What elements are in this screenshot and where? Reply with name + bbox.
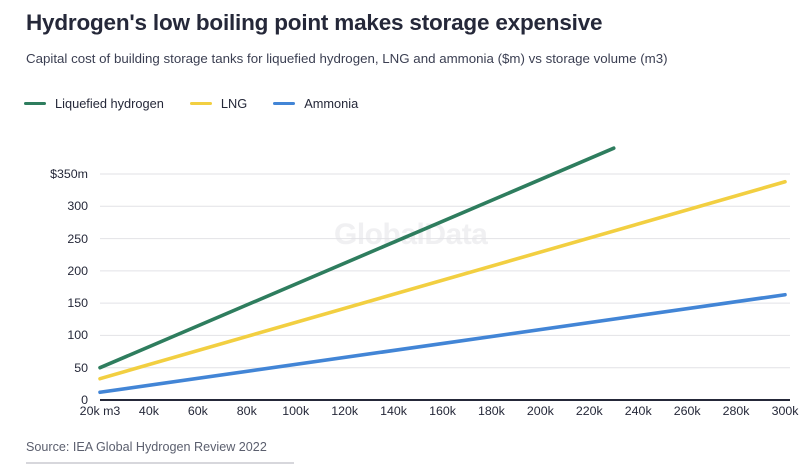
x-axis-tick-label: 60k bbox=[188, 404, 208, 418]
x-axis-tick-label: 240k bbox=[625, 404, 652, 418]
series-line-lng bbox=[100, 182, 785, 379]
x-axis-tick-label: 260k bbox=[674, 404, 701, 418]
chart-series-lines bbox=[100, 148, 785, 392]
x-axis-tick-label: 220k bbox=[576, 404, 603, 418]
chart-source: Source: IEA Global Hydrogen Review 2022 bbox=[26, 440, 267, 454]
y-axis-tick-label: 50 bbox=[0, 361, 88, 375]
series-line-ammonia bbox=[100, 295, 785, 393]
x-axis-tick-label: 180k bbox=[478, 404, 505, 418]
x-axis-tick-label: 200k bbox=[527, 404, 554, 418]
x-axis-tick-label: 20k m3 bbox=[80, 404, 121, 418]
x-axis-tick-label: 280k bbox=[723, 404, 750, 418]
chart-plot-area bbox=[0, 0, 807, 464]
y-axis-tick-label: 250 bbox=[0, 232, 88, 246]
chart-gridlines bbox=[100, 174, 790, 368]
chart-page: Hydrogen's low boiling point makes stora… bbox=[0, 0, 807, 464]
x-axis-tick-label: 120k bbox=[331, 404, 358, 418]
x-axis-tick-label: 160k bbox=[429, 404, 456, 418]
y-axis-tick-label: 100 bbox=[0, 328, 88, 342]
x-axis-tick-label: 100k bbox=[282, 404, 309, 418]
x-axis-tick-label: 140k bbox=[380, 404, 407, 418]
y-axis-tick-label: 300 bbox=[0, 199, 88, 213]
x-axis-tick-label: 40k bbox=[139, 404, 159, 418]
x-axis-tick-label: 80k bbox=[237, 404, 257, 418]
x-axis-tick-label: 300k bbox=[772, 404, 799, 418]
y-axis-tick-label: 150 bbox=[0, 296, 88, 310]
y-axis-tick-label: 200 bbox=[0, 264, 88, 278]
y-axis-tick-label: $350m bbox=[0, 167, 88, 181]
y-axis-tick-label: 0 bbox=[0, 393, 88, 407]
series-line-liquefied-hydrogen bbox=[100, 148, 614, 368]
